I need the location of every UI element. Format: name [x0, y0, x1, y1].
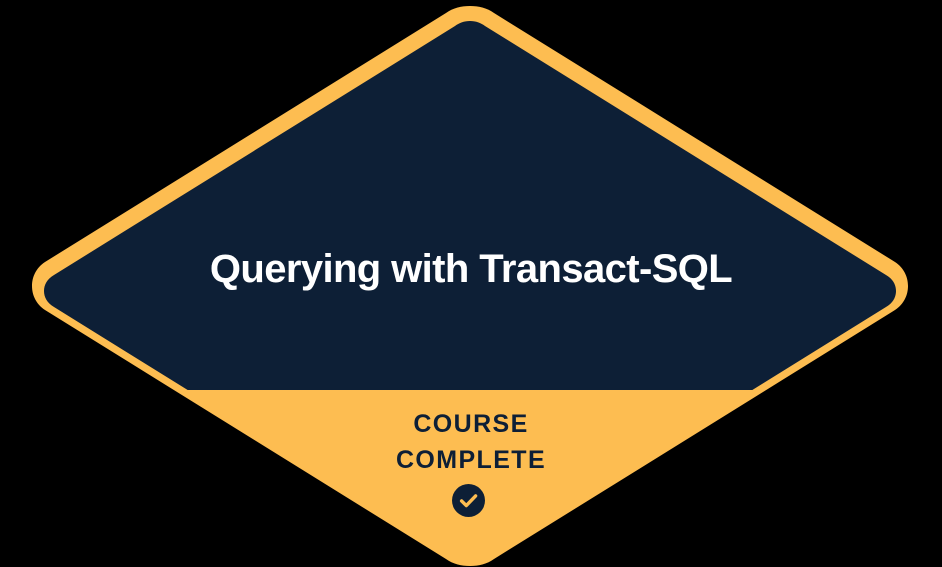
check-icon [452, 484, 485, 517]
diamond-badge-graphic [0, 0, 942, 567]
check-icon-circle [452, 484, 485, 517]
course-completion-badge: Querying with Transact-SQL COURSE COMPLE… [0, 0, 942, 567]
